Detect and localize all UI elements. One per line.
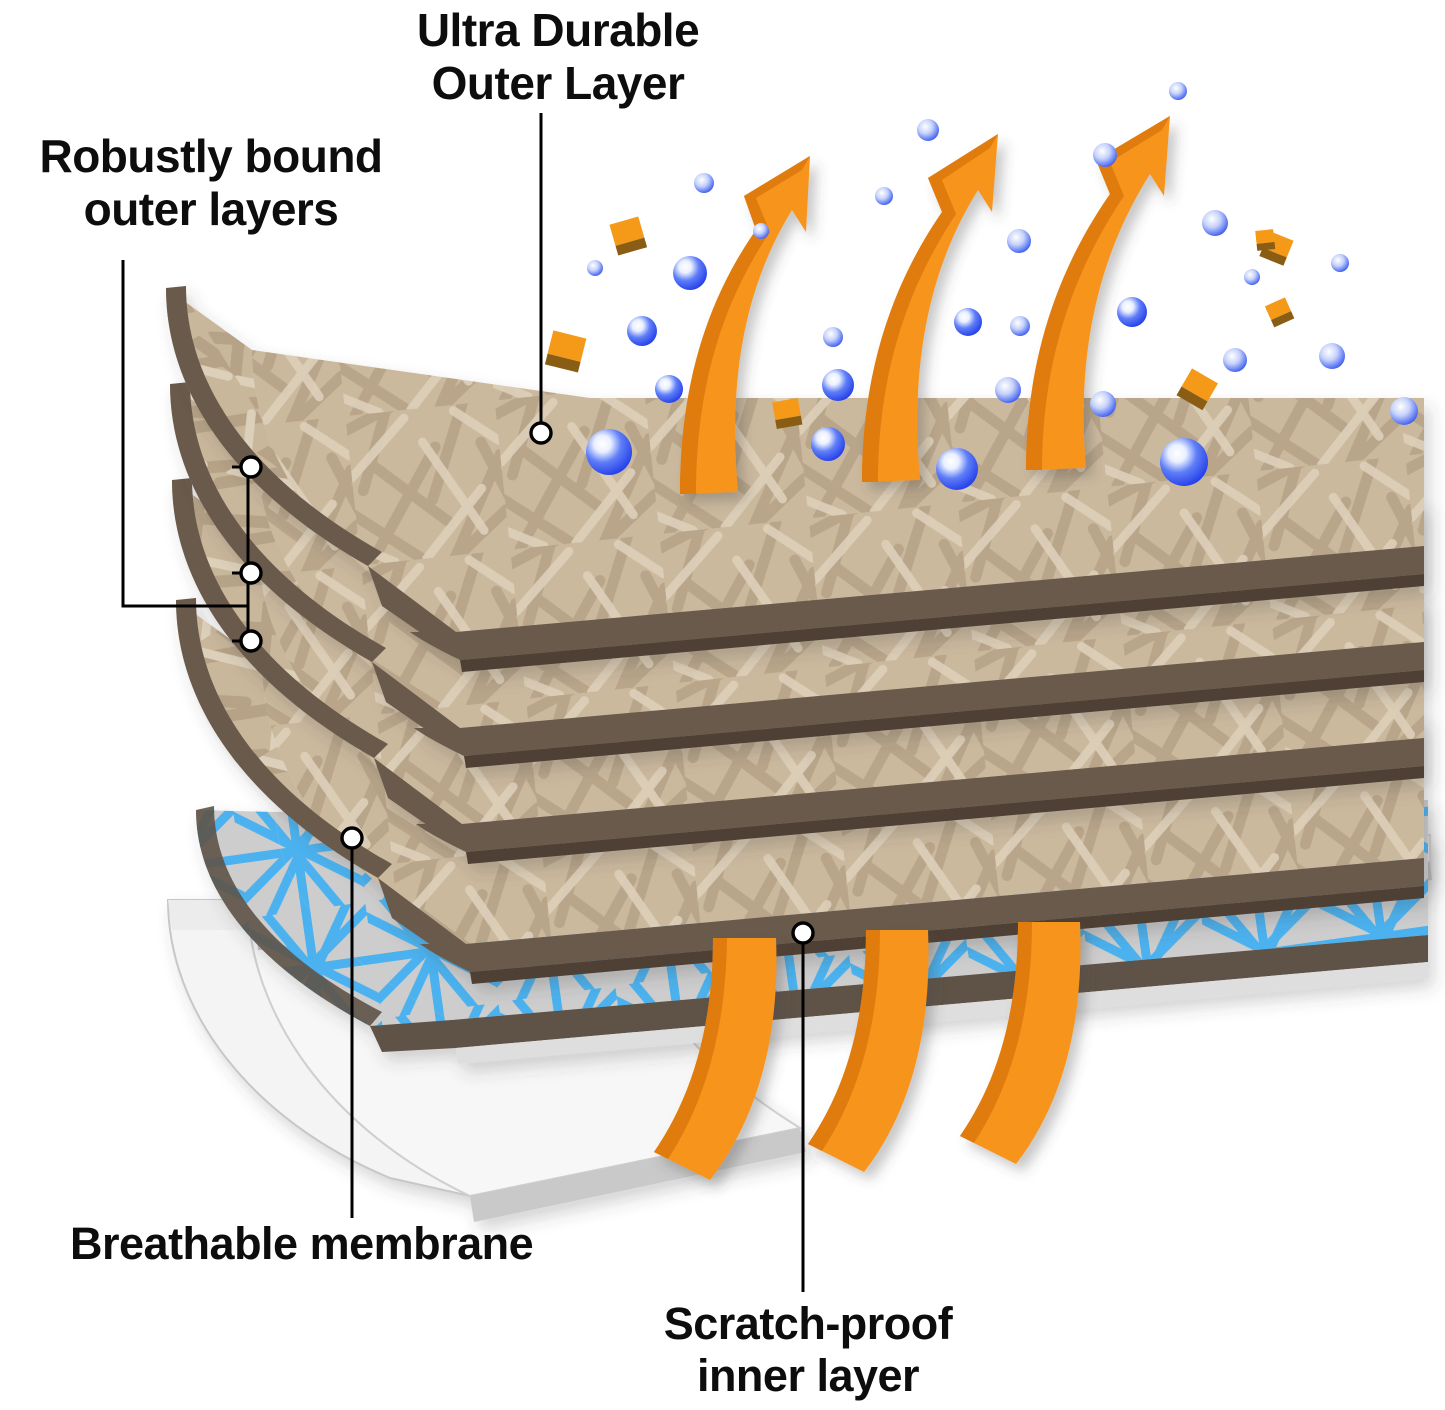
label-robustly-bound-outer-layers: Robustly bound outer layers [6,130,416,237]
label-ultra-durable-outer-layer: Ultra Durable Outer Layer [378,4,738,111]
label-breathable-membrane: Breathable membrane [70,1218,660,1270]
diagram-canvas: Ultra Durable Outer Layer Robustly bound… [0,0,1445,1410]
label-scratch-proof-inner-layer: Scratch-proof inner layer [618,1298,998,1402]
